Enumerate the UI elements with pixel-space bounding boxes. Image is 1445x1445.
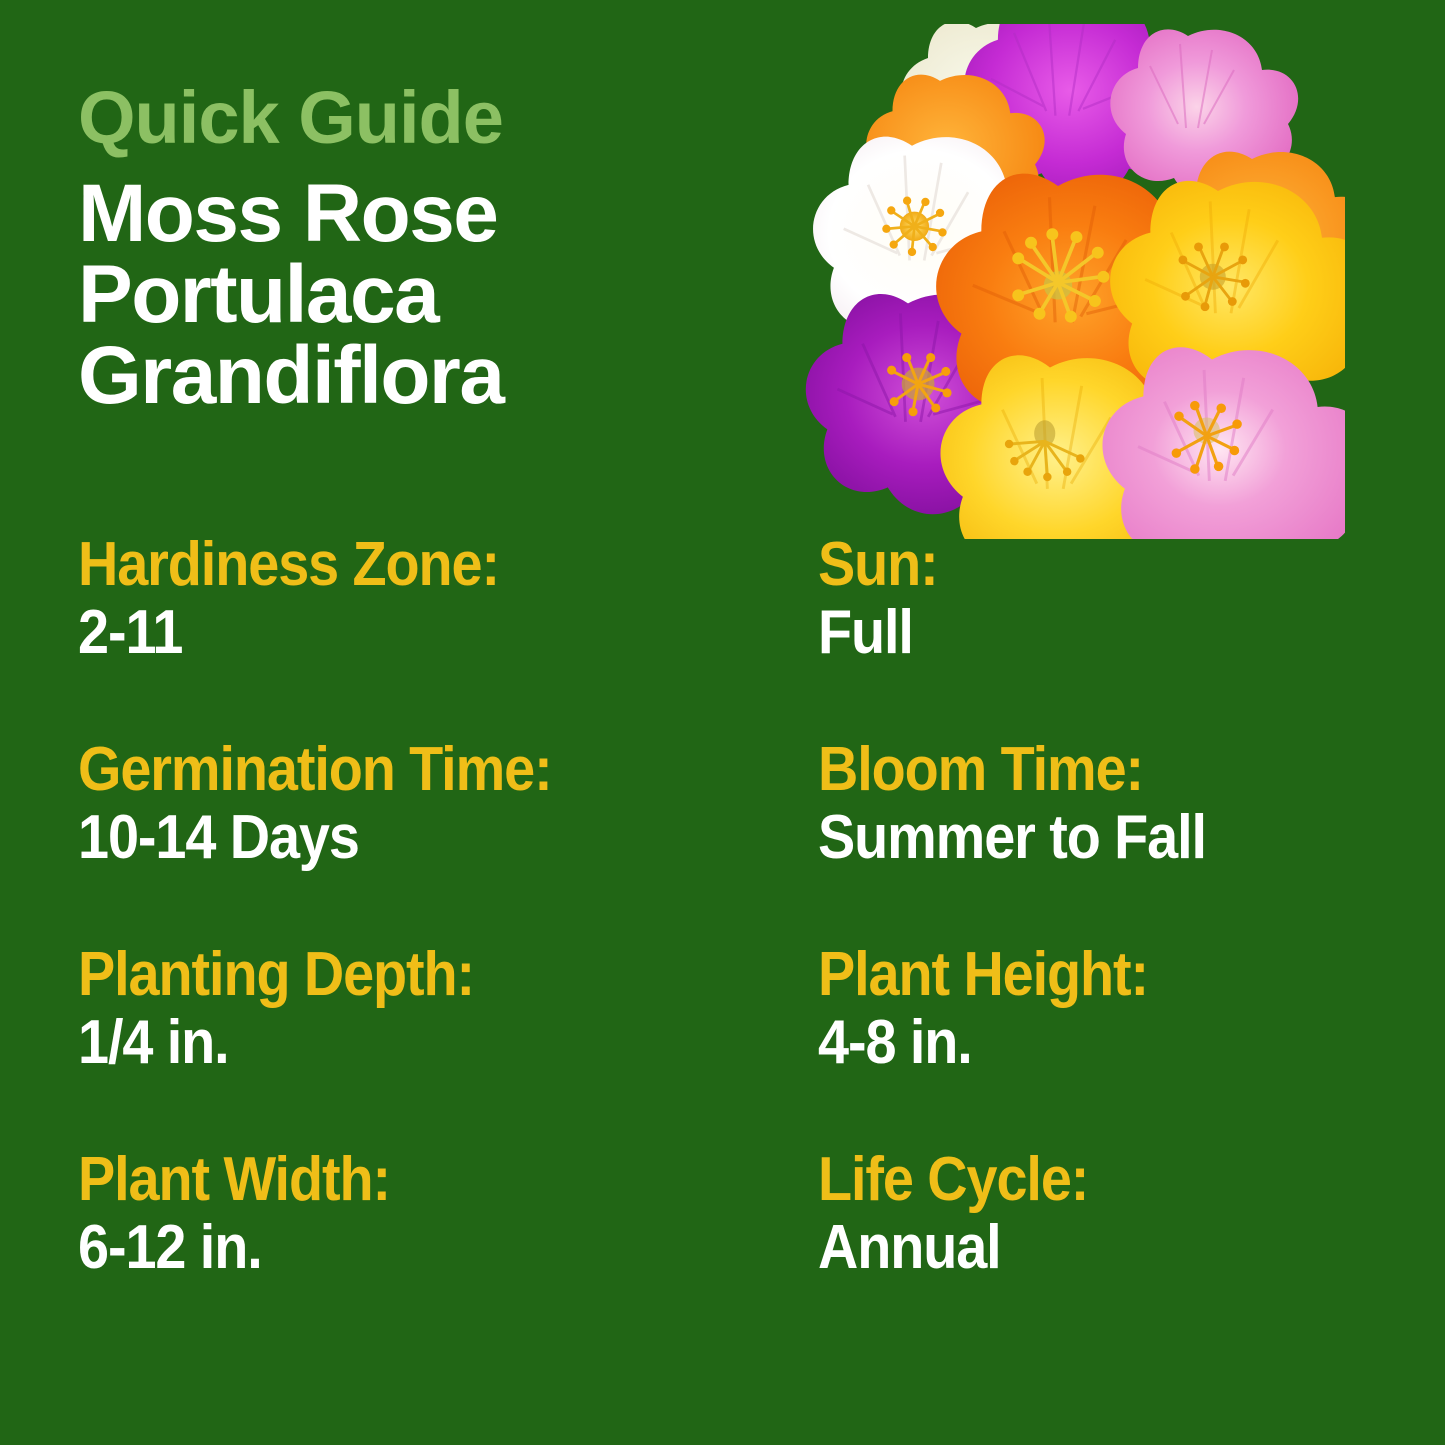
spec-label: Life Cycle: <box>818 1149 1322 1211</box>
quick-guide-card: Quick Guide Moss Rose Portulaca Grandifl… <box>0 0 1445 1445</box>
spec-label: Bloom Time: <box>818 739 1322 801</box>
spec-label: Plant Height: <box>818 944 1322 1006</box>
eyebrow-quick-guide: Quick Guide <box>78 82 718 155</box>
header: Quick Guide Moss Rose Portulaca Grandifl… <box>78 82 718 416</box>
spec-value: 2-11 <box>78 602 744 664</box>
title-line-1: Moss Rose <box>78 173 718 254</box>
spec-label: Sun: <box>818 534 1322 596</box>
spec-value: Annual <box>818 1217 1322 1279</box>
spec-grid: Hardiness Zone: 2-11 Sun: Full Germinati… <box>78 534 1378 1354</box>
spec-hardiness-zone: Hardiness Zone: 2-11 <box>78 534 818 739</box>
spec-label: Germination Time: <box>78 739 744 801</box>
spec-value: 6-12 in. <box>78 1217 744 1279</box>
spec-value: 4-8 in. <box>818 1012 1322 1074</box>
title-line-3: Grandiflora <box>78 335 718 416</box>
spec-germination-time: Germination Time: 10-14 Days <box>78 739 818 944</box>
spec-label: Plant Width: <box>78 1149 744 1211</box>
spec-plant-width: Plant Width: 6-12 in. <box>78 1149 818 1354</box>
spec-value: 10-14 Days <box>78 807 744 869</box>
spec-value: Full <box>818 602 1322 664</box>
spec-value: Summer to Fall <box>818 807 1322 869</box>
page-title: Moss Rose Portulaca Grandiflora <box>78 173 718 417</box>
spec-bloom-time: Bloom Time: Summer to Fall <box>818 739 1378 944</box>
spec-label: Planting Depth: <box>78 944 744 1006</box>
spec-label: Hardiness Zone: <box>78 534 744 596</box>
spec-plant-height: Plant Height: 4-8 in. <box>818 944 1378 1149</box>
moss-rose-flower-cluster-photo <box>800 24 1345 539</box>
title-line-2: Portulaca <box>78 254 718 335</box>
spec-life-cycle: Life Cycle: Annual <box>818 1149 1378 1354</box>
spec-sun: Sun: Full <box>818 534 1378 739</box>
spec-planting-depth: Planting Depth: 1/4 in. <box>78 944 818 1149</box>
spec-value: 1/4 in. <box>78 1012 744 1074</box>
